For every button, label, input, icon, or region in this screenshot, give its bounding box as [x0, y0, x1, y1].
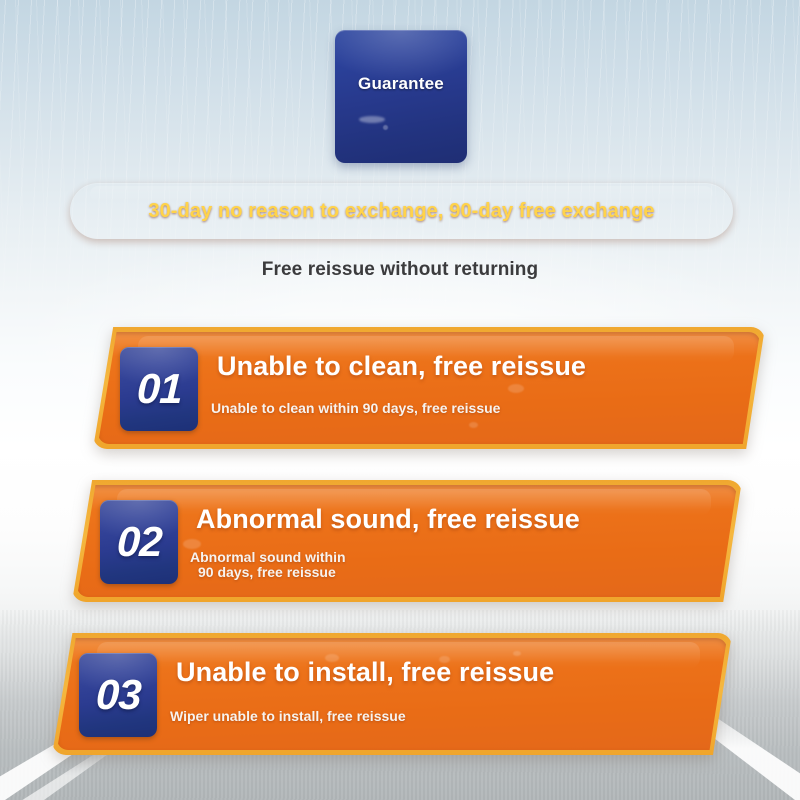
water-droplet-icon [508, 384, 524, 393]
card-number: 02 [116, 518, 162, 566]
card-number-box: 01 [120, 347, 198, 431]
card-number: 03 [95, 671, 141, 719]
water-droplet-icon [469, 422, 478, 428]
card-body [57, 638, 727, 750]
card-subtitle-line-1: Abnormal sound within [190, 550, 346, 565]
card-number-box: 02 [100, 500, 178, 584]
badge-glint-icon [359, 116, 385, 123]
guarantee-card-02: 02 Abnormal sound, free reissue Abnormal… [72, 480, 742, 602]
guarantee-badge-label: Guarantee [335, 74, 467, 94]
card-subtitle: Unable to clean within 90 days, free rei… [211, 401, 500, 416]
badge-glint-small-icon [383, 125, 388, 130]
promo-banner: Guarantee 30-day no reason to exchange, … [0, 0, 800, 800]
card-number: 01 [136, 365, 182, 413]
guarantee-card-03: 03 Unable to install, free reissue Wiper… [52, 633, 732, 755]
headline-pill: 30-day no reason to exchange, 90-day fre… [70, 183, 733, 239]
subheadline: Free reissue without returning [0, 259, 800, 281]
guarantee-badge: Guarantee [335, 30, 467, 163]
card-subtitle: Wiper unable to install, free reissue [170, 709, 406, 724]
headline-pill-text: 30-day no reason to exchange, 90-day fre… [148, 200, 654, 223]
guarantee-card-01: 01 Unable to clean, free reissue Unable … [93, 327, 765, 449]
card-title: Unable to clean, free reissue [217, 351, 586, 382]
card-title: Unable to install, free reissue [176, 657, 554, 688]
card-title: Abnormal sound, free reissue [196, 504, 580, 535]
water-droplet-icon [183, 539, 201, 549]
card-subtitle: Abnormal sound within 90 days, free reis… [190, 550, 346, 580]
card-number-box: 03 [79, 653, 157, 737]
water-droplet-icon [513, 651, 521, 656]
card-subtitle-line-2: 90 days, free reissue [198, 565, 346, 580]
